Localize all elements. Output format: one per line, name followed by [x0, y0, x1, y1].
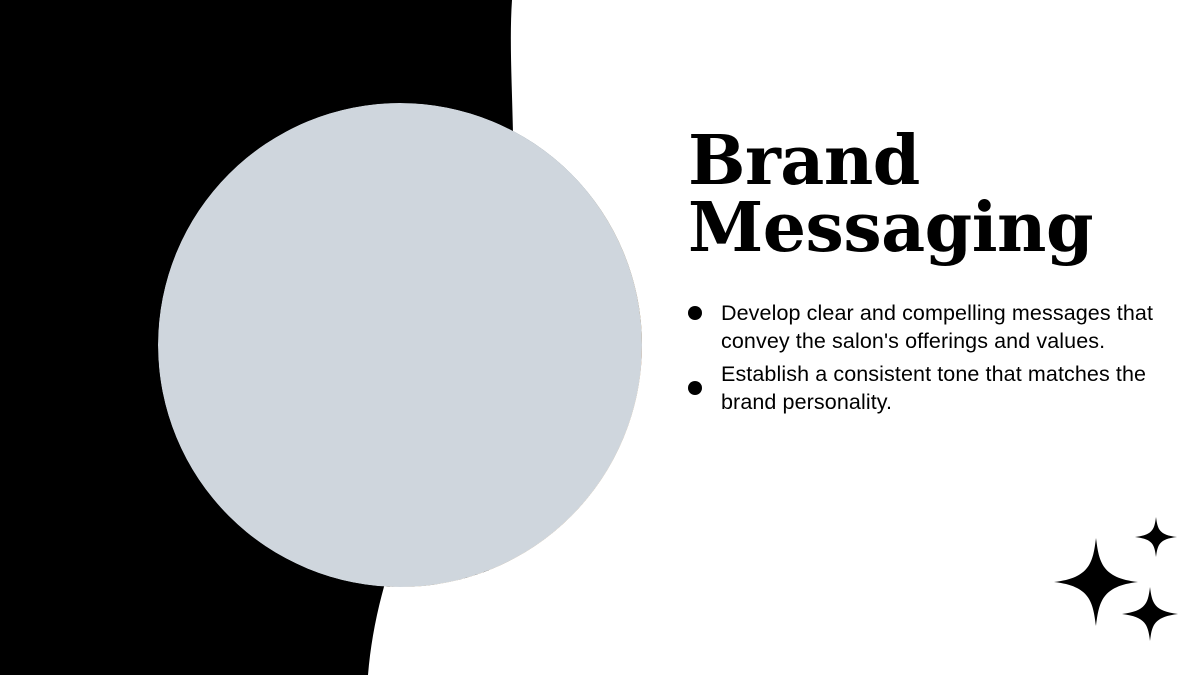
sparkles-decoration — [1052, 516, 1182, 641]
bullet-list: Develop clear and compelling messages th… — [688, 299, 1168, 417]
bullet-marker-icon — [688, 381, 702, 395]
slide-canvas: GOALS where u want to be NEEDS what they… — [0, 0, 1200, 675]
bullet-marker-icon — [688, 306, 702, 320]
bullet-text: Develop clear and compelling messages th… — [721, 299, 1168, 356]
sparkle-large-icon — [1054, 538, 1138, 626]
photo-circle-overlay — [158, 103, 642, 587]
photo-illustration-top — [158, 103, 642, 587]
sparkle-medium-icon — [1122, 587, 1178, 641]
bullet-text: Establish a consistent tone that matches… — [721, 360, 1168, 417]
list-item: Establish a consistent tone that matches… — [688, 360, 1168, 417]
sparkle-small-icon — [1135, 517, 1177, 557]
page-title: Brand Messaging — [688, 128, 1168, 263]
content-column: Brand Messaging Develop clear and compel… — [688, 128, 1168, 421]
list-item: Develop clear and compelling messages th… — [688, 299, 1168, 356]
